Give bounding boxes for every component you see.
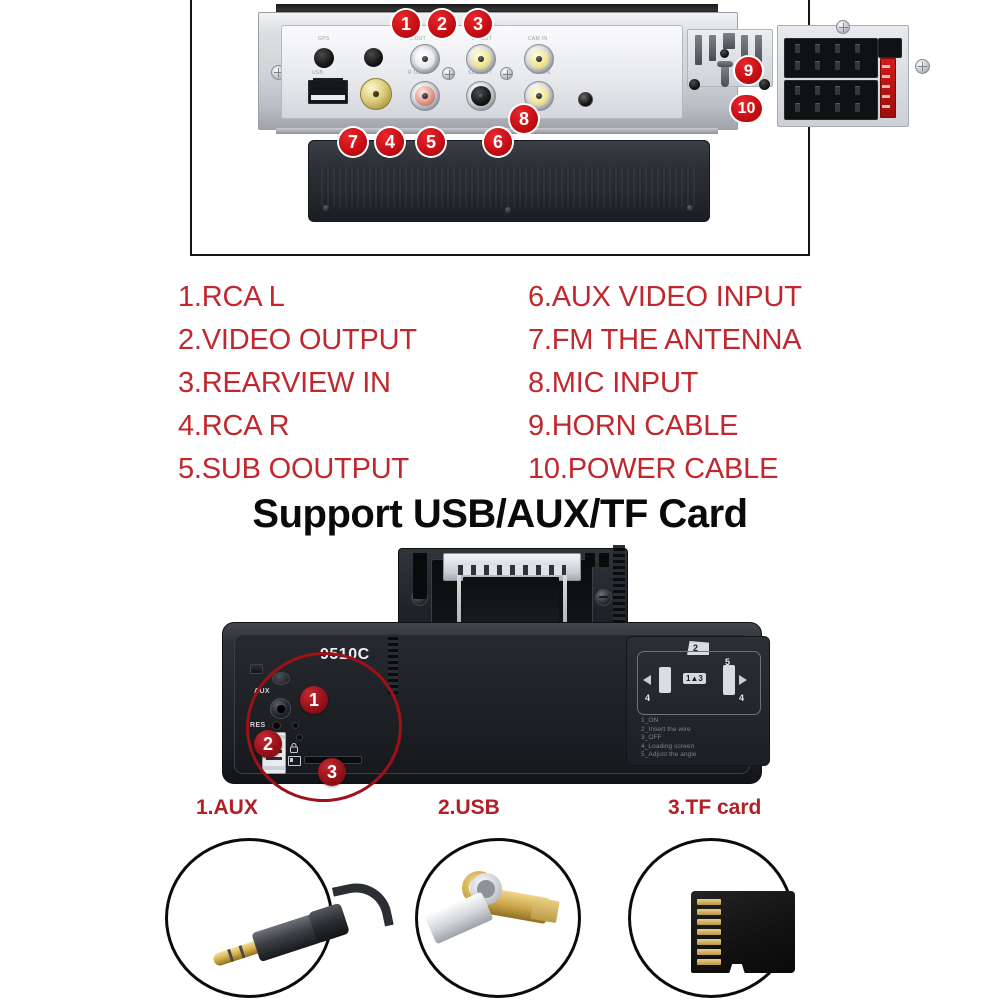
iso-connector-well <box>777 25 909 127</box>
rca-jack-sub-output <box>466 81 496 111</box>
aux-plug-photo <box>165 838 333 998</box>
silk-label-camin: CAM IN <box>528 36 547 42</box>
instr-hinge-left <box>659 667 671 693</box>
front-callout-badge-1: 1 <box>300 686 328 714</box>
accessory-label-usb: 2.USB <box>438 796 500 820</box>
accessory-label-tf: 3.TF card <box>668 796 761 820</box>
aux-plug-illustration <box>204 876 395 1006</box>
iso-block-spare <box>878 38 902 58</box>
legend-column-right: 6.AUX VIDEO INPUT 7.FM THE ANTENNA 8.MIC… <box>528 276 802 491</box>
usb-port-tongue <box>311 95 345 100</box>
fuse-strip <box>880 58 896 118</box>
instruction-step: 2_Insert the wire <box>641 726 761 735</box>
tf-card-illustration <box>691 891 795 973</box>
instruction-step-list: 1_ON 2_Insert the wire 3_OFF 4_Loading s… <box>641 717 761 760</box>
instr-arrow-left-icon <box>643 675 651 685</box>
mount-hole-right <box>759 79 770 90</box>
instr-hinge-right <box>723 665 735 695</box>
back-panel-screw <box>323 205 329 211</box>
iso-connector-speaker <box>784 38 878 78</box>
instruction-step: 5_Adjust the angle <box>641 751 761 760</box>
plate-screw-b <box>500 67 513 80</box>
mount-hole-left <box>689 79 700 90</box>
silk-label-usb: USB <box>312 70 323 76</box>
vent-slot <box>709 35 716 61</box>
legend-item-4: 4.RCA R <box>178 405 417 448</box>
connection-legend: 1.RCA L 2.VIDEO OUTPUT 3.REARVIEW IN 4.R… <box>178 276 868 484</box>
callout-badge-7: 7 <box>339 128 367 156</box>
callout-badge-8: 8 <box>510 105 538 133</box>
legend-item-8: 8.MIC INPUT <box>528 362 802 405</box>
instruction-step: 3_OFF <box>641 734 761 743</box>
callout-badge-4: 4 <box>376 128 404 156</box>
plug-gold-tip <box>212 941 260 968</box>
ir-window-icon <box>250 664 263 674</box>
silk-label-gps: GPS <box>318 36 329 42</box>
legend-item-6: 6.AUX VIDEO INPUT <box>528 276 802 319</box>
rca-pin <box>478 93 484 99</box>
vent-slot <box>695 35 702 65</box>
tf-card-photo <box>628 838 794 998</box>
fm-antenna-jack <box>360 78 392 110</box>
back-panel-screw <box>505 207 511 213</box>
iso-well-screw <box>836 20 850 34</box>
plate-screw-a <box>442 67 455 80</box>
legend-item-10: 10.POWER CABLE <box>528 448 802 491</box>
rca-jack-l-out <box>410 44 440 74</box>
section-heading: Support USB/AUX/TF Card <box>0 492 1000 537</box>
heatsink-fins <box>321 167 697 207</box>
rca-jack-r-out <box>410 81 440 111</box>
legend-item-5: 5.SUB OOUTPUT <box>178 448 417 491</box>
callout-badge-9: 9 <box>735 57 762 84</box>
silk-label-lout: L OUT <box>410 36 426 42</box>
chassis-body: GPS USB L OUT AV OUT CAM IN R OUT SUB OU… <box>258 12 738 130</box>
bracket-screw-right <box>595 589 612 606</box>
callout-badge-3: 3 <box>464 10 492 38</box>
rear-heatsink-panel <box>308 140 710 222</box>
vent-slot <box>723 33 735 49</box>
rca-pin <box>536 93 542 99</box>
legend-item-7: 7.FM THE ANTENNA <box>528 319 802 362</box>
instruction-step: 4_Loading screen <box>641 743 761 752</box>
instr-number-4-left: 4 <box>645 693 650 703</box>
bracket-vent <box>585 553 595 567</box>
operation-instruction-panel: 2 1▲3 5 4 4 1_ON 2_Insert the wire 3_OFF… <box>626 636 770 766</box>
instr-chip-label: 1▲3 <box>683 673 706 684</box>
rca-jack-rearview-in <box>524 44 554 74</box>
legend-item-9: 9.HORN CABLE <box>528 405 802 448</box>
legend-column-left: 1.RCA L 2.VIDEO OUTPUT 3.REARVIEW IN 4.R… <box>178 276 417 491</box>
bracket-vent <box>599 553 609 567</box>
gps-antenna-hole <box>314 48 334 68</box>
legend-item-2: 2.VIDEO OUTPUT <box>178 319 417 362</box>
instr-arrow-right-icon <box>739 675 747 685</box>
rca-pin <box>422 56 428 62</box>
vent-center-hole <box>720 49 729 58</box>
product-diagram-page: GPS USB L OUT AV OUT CAM IN R OUT SUB OU… <box>0 0 1000 1000</box>
tf-card-contacts <box>697 899 721 965</box>
rear-connection-panel: GPS USB L OUT AV OUT CAM IN R OUT SUB OU… <box>258 4 736 132</box>
rca-pin <box>478 56 484 62</box>
bracket-vent <box>413 553 427 599</box>
ribbon-contacts <box>458 565 566 575</box>
instruction-step: 1_ON <box>641 717 761 726</box>
iso-connector-power <box>784 80 878 120</box>
plug-cable <box>332 877 394 936</box>
fm-antenna-pin <box>373 91 379 97</box>
chassis-screw-far-right <box>915 59 930 74</box>
mic-input-jack <box>578 92 593 107</box>
tf-card-notch <box>729 964 745 974</box>
secondary-antenna-hole <box>364 48 383 67</box>
usb-port-lip <box>313 78 343 81</box>
accessory-label-aux: 1.AUX <box>196 796 258 820</box>
front-callout-badge-3: 3 <box>318 758 346 786</box>
rca-pin <box>422 93 428 99</box>
usb-drive-photo <box>415 838 581 998</box>
instr-number-4-right: 4 <box>739 693 744 703</box>
callout-badge-10: 10 <box>731 95 762 122</box>
callout-badge-1: 1 <box>392 10 420 38</box>
usb-port <box>308 80 348 104</box>
callout-badge-2: 2 <box>428 10 456 38</box>
rca-pin <box>536 56 542 62</box>
callout-badge-5: 5 <box>417 128 445 156</box>
legend-item-1: 1.RCA L <box>178 276 417 319</box>
rca-jack-video-output <box>466 44 496 74</box>
back-panel-screw <box>687 205 693 211</box>
callout-badge-6: 6 <box>484 128 512 156</box>
front-callout-badge-2: 2 <box>254 730 282 758</box>
legend-item-3: 3.REARVIEW IN <box>178 362 417 405</box>
connector-plate: GPS USB L OUT AV OUT CAM IN R OUT SUB OU… <box>281 25 683 119</box>
vent-stem <box>721 67 729 87</box>
instr-number-5: 5 <box>725 657 730 667</box>
